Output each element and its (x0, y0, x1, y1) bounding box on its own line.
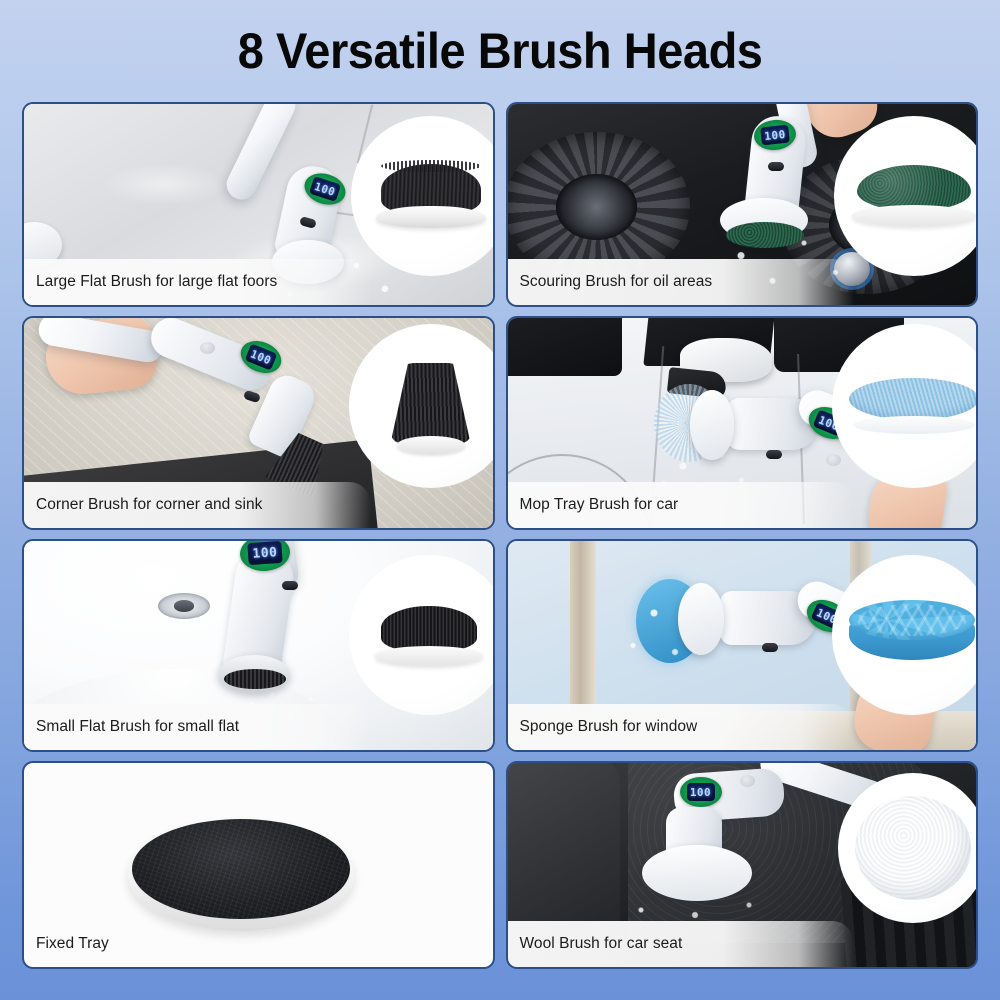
display-digits: 100 (313, 180, 337, 197)
blue-microfiber-mop-head-icon (849, 378, 978, 434)
wool-pad (855, 796, 971, 900)
caption-mop-tray-brush: Mop Tray Brush for car (508, 482, 855, 528)
display-digits: 100 (249, 348, 273, 366)
tool-sponge-disc (678, 583, 724, 655)
caption-text: Fixed Tray (36, 935, 109, 953)
caption-fixed-tray: Fixed Tray (24, 921, 305, 967)
led-screen: 100 (687, 783, 715, 801)
display-digits: 100 (763, 128, 785, 141)
fixed-tray-product (128, 819, 354, 931)
brush-head-grid: 100 Large Flat Brush for large flat foor… (0, 102, 1000, 969)
tool-mop-disc (690, 390, 734, 460)
card-corner-brush[interactable]: 100 Corner Brush for corner and sink (22, 316, 495, 530)
led-screen: 100 (309, 176, 341, 202)
caption-text: Sponge Brush for window (520, 718, 698, 736)
inset-sponge-brush-head (832, 555, 978, 715)
car-window-rear (508, 318, 622, 376)
brush-base (375, 646, 483, 666)
card-scouring-brush[interactable]: 100 Scouring Brush for oil areas (506, 102, 979, 307)
brush-bristles (391, 363, 471, 443)
caption-text: Small Flat Brush for small flat (36, 718, 239, 736)
led-display: 100 (680, 777, 722, 807)
card-mop-tray-brush[interactable]: 100 Mop Tray Brush for car (506, 316, 979, 530)
display-digits: 100 (252, 546, 278, 561)
white-wool-pad-head-icon (855, 796, 971, 900)
mode-knob (740, 775, 755, 787)
caption-large-flat-brush: Large Flat Brush for large flat foors (24, 259, 371, 305)
card-fixed-tray[interactable]: Fixed Tray (22, 761, 495, 969)
brush-base (852, 205, 976, 227)
caption-text: Scouring Brush for oil areas (520, 273, 713, 291)
inset-wool-brush-head (838, 773, 978, 923)
mode-knob (200, 342, 215, 354)
small-flat-brush-head-icon (373, 604, 485, 666)
card-wool-brush[interactable]: 100 Wool Brush for car seat (506, 761, 979, 969)
caption-wool-brush: Wool Brush for car seat (508, 921, 855, 967)
power-button (766, 450, 782, 459)
power-button (243, 390, 261, 404)
page-title: 8 Versatile Brush Heads (238, 22, 763, 80)
caption-text: Large Flat Brush for large flat foors (36, 273, 277, 291)
caption-small-flat-brush: Small Flat Brush for small flat (24, 704, 371, 750)
led-screen: 100 (247, 541, 282, 565)
brush-base (376, 206, 486, 228)
blue-sponge-head-icon (849, 600, 975, 670)
caption-text: Wool Brush for car seat (520, 935, 683, 953)
brush-bristles-on-tool (224, 669, 286, 689)
microfiber-pad (849, 378, 978, 420)
scouring-pad-on-tool (726, 222, 804, 248)
led-screen: 100 (245, 343, 278, 370)
card-large-flat-brush[interactable]: 100 Large Flat Brush for large flat foor… (22, 102, 495, 307)
caption-corner-brush: Corner Brush for corner and sink (24, 482, 371, 528)
brush-base (397, 436, 465, 454)
power-button (762, 643, 778, 652)
card-sponge-brush[interactable]: 100 Sponge Brush for window (506, 539, 979, 752)
corner-cone-brush-head-icon (383, 358, 479, 454)
brush-base (853, 416, 975, 434)
power-button (768, 162, 784, 171)
power-button (282, 581, 298, 590)
caption-text: Mop Tray Brush for car (520, 496, 679, 514)
large-flat-brush-head-icon (375, 164, 487, 228)
sink-overflow-drain (158, 593, 210, 619)
sponge-honeycomb-top (849, 600, 975, 640)
tray-velcro-surface (132, 819, 350, 919)
tool-wool-disc (642, 845, 752, 901)
display-digits: 100 (690, 787, 711, 798)
led-screen: 100 (760, 125, 790, 146)
caption-scouring-brush: Scouring Brush for oil areas (508, 259, 855, 305)
caption-text: Corner Brush for corner and sink (36, 496, 262, 514)
tool-handle (36, 318, 166, 365)
green-scouring-pad-head-icon (852, 165, 976, 227)
caption-sponge-brush: Sponge Brush for window (508, 704, 855, 750)
mode-knob (826, 454, 841, 466)
title-bar: 8 Versatile Brush Heads (0, 0, 1000, 102)
card-small-flat-brush[interactable]: 100 Small Flat Brush for small flat (22, 539, 495, 752)
